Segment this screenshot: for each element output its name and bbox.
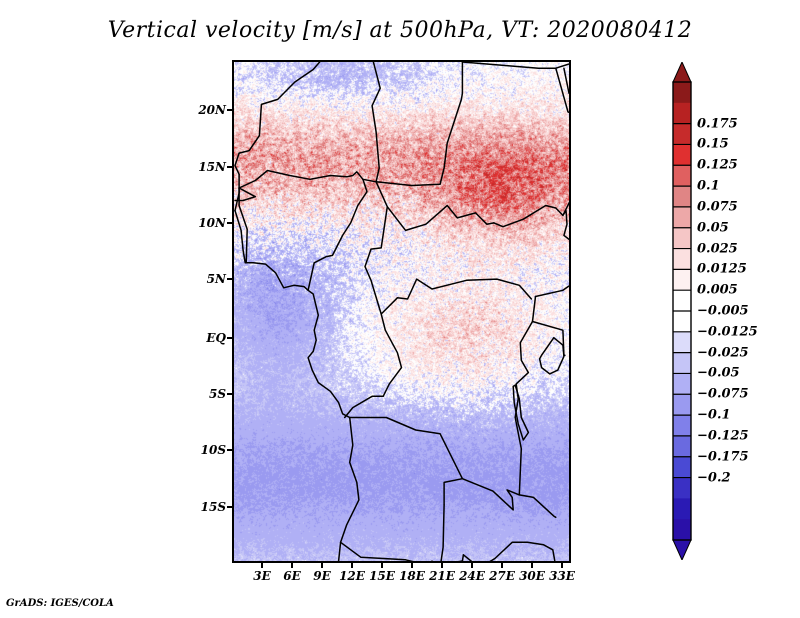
- colorbar-tick-label: −0.075: [697, 387, 749, 402]
- lat-tick-mark: [227, 166, 233, 168]
- colorbar-tick-label: −0.05: [697, 366, 740, 381]
- lon-tick-mark: [381, 562, 383, 568]
- lat-tick-mark: [227, 109, 233, 111]
- lon-tick-mark: [411, 562, 413, 568]
- lat-tick-label-eq: EQ: [186, 331, 226, 345]
- grads-credit: GrADS: IGES/COLA: [6, 598, 114, 609]
- lon-tick-mark: [561, 562, 563, 568]
- lat-tick-label-20n: 20N: [186, 103, 226, 117]
- lat-tick-mark: [227, 222, 233, 224]
- lon-tick-mark: [321, 562, 323, 568]
- colorbar-tick-label: 0.075: [697, 199, 738, 214]
- lon-tick-mark: [351, 562, 353, 568]
- lon-tick-mark: [501, 562, 503, 568]
- lat-tick-mark: [227, 278, 233, 280]
- lat-tick-label-5s: 5S: [186, 387, 226, 401]
- colorbar[interactable]: [671, 62, 693, 560]
- lat-tick-label-10n: 10N: [186, 216, 226, 230]
- vertical-velocity-field: [234, 62, 569, 561]
- page-title: Vertical velocity [m/s] at 500hPa, VT: 2…: [0, 18, 800, 43]
- map-plot-area[interactable]: [232, 60, 571, 563]
- colorbar-tick-label: 0.005: [697, 283, 738, 298]
- lat-tick-label-10s: 10S: [186, 443, 226, 457]
- lon-tick-mark: [291, 562, 293, 568]
- colorbar-tick-label: 0.05: [697, 220, 729, 235]
- colorbar-tick-label: 0.1: [697, 179, 720, 194]
- colorbar-tick-label: 0.0125: [697, 262, 747, 277]
- lon-tick-label-33e: 33E: [542, 569, 582, 583]
- colorbar-tick-label: 0.125: [697, 158, 738, 173]
- lat-tick-mark: [227, 449, 233, 451]
- colorbar-tick-label: 0.025: [697, 241, 738, 256]
- lat-tick-label-15s: 15S: [186, 500, 226, 514]
- colorbar-tick-label: −0.175: [697, 449, 749, 464]
- lat-tick-label-15n: 15N: [186, 160, 226, 174]
- colorbar-tick-label: −0.125: [697, 428, 749, 443]
- lon-tick-mark: [261, 562, 263, 568]
- lat-tick-mark: [227, 506, 233, 508]
- colorbar-tick-label: 0.175: [697, 116, 738, 131]
- lon-tick-mark: [531, 562, 533, 568]
- grads-plot-page: Vertical velocity [m/s] at 500hPa, VT: 2…: [0, 0, 800, 618]
- lat-tick-label-5n: 5N: [186, 272, 226, 286]
- colorbar-tick-label: −0.005: [697, 304, 749, 319]
- lon-tick-mark: [471, 562, 473, 568]
- colorbar-tick-label: 0.15: [697, 137, 729, 152]
- lat-tick-mark: [227, 393, 233, 395]
- colorbar-tick-label: −0.025: [697, 345, 749, 360]
- colorbar-tick-label: −0.2: [697, 470, 731, 485]
- lon-tick-mark: [441, 562, 443, 568]
- lat-tick-mark: [227, 337, 233, 339]
- colorbar-gradient: [671, 62, 693, 560]
- colorbar-tick-label: −0.1: [697, 408, 731, 423]
- colorbar-tick-label: −0.0125: [697, 324, 758, 339]
